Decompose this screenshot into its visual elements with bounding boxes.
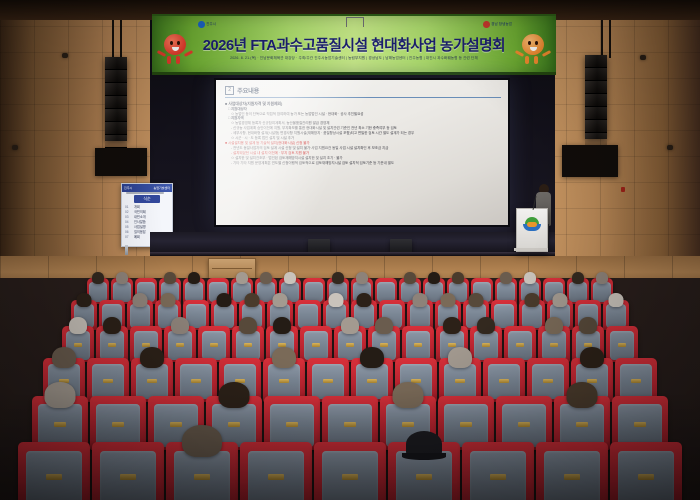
seat-number-plate xyxy=(576,422,588,427)
audience-member xyxy=(188,272,200,284)
emergency-indicator-icon xyxy=(621,187,625,192)
slide-title-rule xyxy=(225,97,501,98)
organizer-logo-left: 진주시 xyxy=(198,21,216,28)
auditorium-seat[interactable] xyxy=(402,326,434,362)
seat-row xyxy=(0,442,700,500)
audience-member xyxy=(441,293,456,307)
seat-number-plate xyxy=(346,343,353,346)
audience-member xyxy=(332,272,344,284)
logo-mark-icon xyxy=(198,21,205,28)
seat-number-plate xyxy=(323,379,332,383)
banner-title: 2026년 FTA과수고품질시설 현대화사업 농가설명회 xyxy=(190,34,518,55)
apple-mascot-icon xyxy=(160,32,190,68)
seat-number-plate xyxy=(380,343,387,346)
stage-floor xyxy=(150,232,555,254)
audience-member xyxy=(469,293,484,307)
audience-member xyxy=(260,272,272,284)
seat-number-plate xyxy=(455,379,464,383)
auditorium-seat[interactable] xyxy=(300,326,332,362)
banner-clamp-icon xyxy=(346,17,364,27)
audience-member xyxy=(545,317,563,334)
auditorium-seat[interactable] xyxy=(314,442,386,500)
audience-member xyxy=(524,272,536,284)
seat-number-plate xyxy=(312,343,319,346)
audience-member xyxy=(356,272,368,284)
slide-heading: 2 주요내용 xyxy=(225,86,501,95)
audience-member xyxy=(161,293,176,307)
auditorium-seat[interactable] xyxy=(164,326,196,362)
seat-number-plate xyxy=(638,474,654,480)
audience-member xyxy=(171,317,189,334)
seat-number-plate xyxy=(74,343,81,346)
audience-member xyxy=(329,293,344,307)
logo-mark-icon xyxy=(483,21,490,28)
seat-number-plate xyxy=(543,379,552,383)
auditorium-seat[interactable] xyxy=(198,326,230,362)
program-board-base xyxy=(126,192,164,194)
stage-laptop xyxy=(390,239,412,253)
seat-number-plate xyxy=(416,474,432,480)
auditorium-seat[interactable] xyxy=(462,442,534,500)
auditorium-seat[interactable] xyxy=(610,442,682,500)
seat-number-plate xyxy=(460,422,472,427)
seat-pad xyxy=(410,304,430,328)
seat-number-plate xyxy=(286,422,298,427)
left-ceiling-spotlight-icon xyxy=(62,53,68,58)
auditorium-seat[interactable] xyxy=(92,442,164,500)
seat-pad xyxy=(298,304,318,328)
seat-number-plate xyxy=(516,343,523,346)
seat-number-plate xyxy=(342,474,358,480)
auditorium-scene: 진주시 경남 창녕농업 2026년 FTA과수고품질시설 현대화사업 농가설명회… xyxy=(0,0,700,500)
event-banner: 진주시 경남 창녕농업 2026년 FTA과수고품질시설 현대화사업 농가설명회… xyxy=(152,14,556,75)
podium xyxy=(516,208,548,252)
program-row-number: 07 xyxy=(125,235,132,240)
seat-pad xyxy=(494,304,514,328)
seat-number-plate xyxy=(147,379,156,383)
audience-member xyxy=(236,272,248,284)
seat-number-plate xyxy=(550,343,557,346)
audience-member xyxy=(596,272,608,284)
audience-member xyxy=(357,293,372,307)
organizer-logo-right-label: 경남 창녕농업 xyxy=(491,22,512,26)
program-board-heading: 식순 xyxy=(134,195,160,203)
seat-number-plate xyxy=(54,422,66,427)
seat-number-plate xyxy=(402,422,414,427)
seat-number-plate xyxy=(46,474,62,480)
speaker-hang-cable xyxy=(112,20,114,60)
audience-member xyxy=(525,293,540,307)
audience-member xyxy=(413,293,428,307)
audience-member xyxy=(164,272,176,284)
audience-member xyxy=(477,317,495,334)
banner-subtitle: 2026. 8. 21.(목) · 진남문화체육관 대강당 · 주최/주관 진주… xyxy=(192,56,516,61)
audience-member xyxy=(579,317,597,334)
seat-number-plate xyxy=(344,422,356,427)
speaker-hang-cable xyxy=(609,20,611,58)
seat-number-plate xyxy=(176,343,183,346)
seat-number-plate xyxy=(448,343,455,346)
seat-number-plate xyxy=(228,422,240,427)
auditorium-seat[interactable] xyxy=(470,326,502,362)
seat-number-plate xyxy=(618,343,625,346)
auditorium-seat[interactable] xyxy=(96,326,128,362)
peach-mascot-icon xyxy=(518,32,548,68)
audience-member xyxy=(52,347,76,368)
left-line-array-speaker xyxy=(105,57,127,141)
left-wall-light-icon xyxy=(12,145,18,150)
audience-member xyxy=(92,272,104,284)
seat-number-plate xyxy=(518,422,530,427)
audience-member xyxy=(404,272,416,284)
audience-seating xyxy=(0,278,700,500)
auditorium-seat[interactable] xyxy=(536,442,608,500)
stage-steps xyxy=(208,258,256,280)
seat-number-plate xyxy=(631,379,640,383)
auditorium-seat[interactable] xyxy=(606,326,638,362)
seat-number-plate xyxy=(120,474,136,480)
podium-area xyxy=(512,186,566,256)
audience-member xyxy=(245,293,260,307)
seat-number-plate xyxy=(103,379,112,383)
speaker-hang-cable xyxy=(601,20,603,58)
right-wall-light-icon xyxy=(667,145,673,150)
speaker-hang-cable xyxy=(120,20,122,60)
seat-number-plate xyxy=(634,422,646,427)
audience-member xyxy=(103,317,121,334)
seat-number-plate xyxy=(279,379,288,383)
audience-member xyxy=(375,317,393,334)
slide-title: 주요내용 xyxy=(237,86,259,95)
audience-member xyxy=(553,293,568,307)
organizer-logo-left-label: 진주시 xyxy=(206,22,216,26)
audience-member xyxy=(452,272,464,284)
seat-pad xyxy=(606,304,626,328)
seat-number-plate xyxy=(482,343,489,346)
audience-member xyxy=(133,293,148,307)
audience-member xyxy=(272,347,296,368)
seat-number-plate xyxy=(244,343,251,346)
right-line-array-speaker xyxy=(585,55,607,139)
audience-member xyxy=(217,293,232,307)
seat-number-plate xyxy=(191,379,200,383)
audience-member xyxy=(273,317,291,334)
audience-member xyxy=(341,317,359,334)
seat-number-plate xyxy=(490,474,506,480)
projection-screen: 2 주요내용 ■ 사업대상자(지원자격 및 지원제외)□ 지원대상자ㅇ 농업인 … xyxy=(216,80,508,225)
program-board-header: 진주시 농업기술센터 xyxy=(122,184,172,192)
projection-screen-frame: 2 주요내용 ■ 사업대상자(지원자격 및 지원제외)□ 지원대상자ㅇ 농업인 … xyxy=(214,78,510,227)
audience-member xyxy=(45,382,76,408)
audience-member xyxy=(580,347,604,368)
audience-member xyxy=(182,425,222,457)
audience-member xyxy=(273,293,288,307)
audience-member xyxy=(500,272,512,284)
audience-member xyxy=(443,317,461,334)
seat-number-plate xyxy=(367,379,376,383)
seat-number-plate xyxy=(108,343,115,346)
audience-member xyxy=(393,382,424,408)
program-board-header-right: 농업기술센터 xyxy=(153,186,170,190)
seat-number-plate xyxy=(268,474,284,480)
audience-member xyxy=(116,272,128,284)
audience-member-with-cap xyxy=(406,431,442,457)
seat-number-plate xyxy=(414,343,421,346)
presentation-slide: 2 주요내용 ■ 사업대상자(지원자격 및 지원제외)□ 지원대상자ㅇ 농업인 … xyxy=(225,86,501,223)
audience-member xyxy=(567,382,598,408)
seat-pad xyxy=(130,304,150,328)
audience-member xyxy=(219,382,250,408)
audience-member xyxy=(609,293,624,307)
slide-body: ■ 사업대상자(지원자격 및 지원제외)□ 지원대상자ㅇ 농업인 등이 단독으로… xyxy=(225,101,501,166)
audience-member xyxy=(69,317,87,334)
audience-member xyxy=(284,272,296,284)
program-board-header-left: 진주시 xyxy=(124,186,132,190)
seat-number-plate xyxy=(170,422,182,427)
slide-line: - 기타 기타 지원 문영계획은 연도별 신청이행적 검토적으로 검토재해방지시… xyxy=(225,161,501,166)
audience-member xyxy=(428,272,440,284)
podium-base xyxy=(514,248,548,251)
auditorium-seat[interactable] xyxy=(388,442,460,500)
auditorium-seat[interactable] xyxy=(538,326,570,362)
audience-member xyxy=(77,293,92,307)
auditorium-seat[interactable] xyxy=(232,326,264,362)
stage-laptop xyxy=(308,239,330,253)
auditorium-seat[interactable] xyxy=(240,442,312,500)
auditorium-seat[interactable] xyxy=(166,442,238,500)
left-wall-panel xyxy=(95,148,147,176)
audience-member xyxy=(448,347,472,368)
auditorium-seat[interactable] xyxy=(18,442,90,500)
right-wall-panel xyxy=(562,145,618,177)
audience-member xyxy=(239,317,257,334)
audience-member xyxy=(572,272,584,284)
audience-member xyxy=(140,347,164,368)
seat-number-plate xyxy=(499,379,508,383)
organizer-logo-right: 경남 창녕농업 xyxy=(483,21,512,28)
seat-number-plate xyxy=(112,422,124,427)
seat-number-plate xyxy=(194,474,210,480)
seat-number-plate xyxy=(564,474,580,480)
auditorium-seat[interactable] xyxy=(504,326,536,362)
city-emblem-logo-icon xyxy=(523,217,541,232)
seat-pad xyxy=(214,304,234,328)
slide-number: 2 xyxy=(225,86,234,94)
right-ceiling-spotlight-icon xyxy=(640,55,646,60)
seat-number-plate xyxy=(210,343,217,346)
seat-pad xyxy=(522,304,542,328)
audience-member xyxy=(360,347,384,368)
